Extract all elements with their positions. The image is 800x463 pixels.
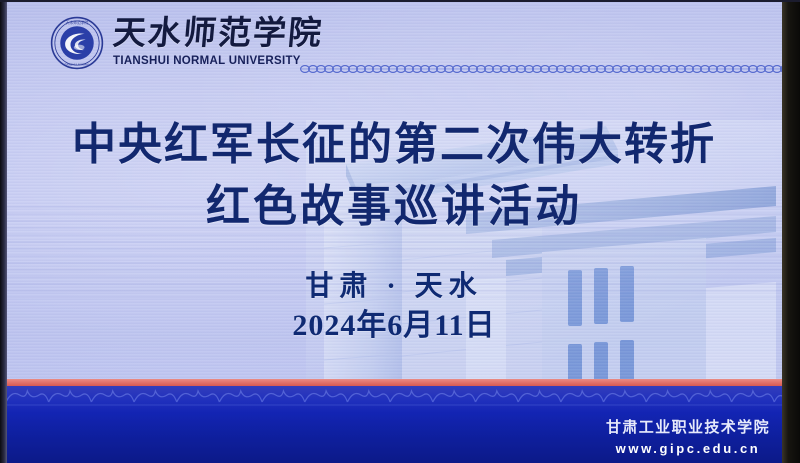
svg-text:天水师范学院: 天水师范学院 [66, 20, 89, 25]
event-location: 甘肃 · 天水 [6, 268, 782, 306]
decorative-chain-divider-icon [300, 63, 782, 75]
watermark-org-name: 甘肃工业职业技术学院 [606, 421, 770, 436]
svg-text:TIANSHUI NORMAL: TIANSHUI NORMAL [63, 63, 90, 67]
screenshot-root: 天水师范学院 TIANSHUI NORMAL 天水师范学院 TIANSHUI N… [0, 0, 800, 463]
watermark-url: www.gipc.edu.cn [606, 442, 770, 455]
university-name-en: TIANSHUI NORMAL UNIVERSITY [113, 56, 323, 68]
screen-bezel-right [782, 0, 800, 463]
broadcaster-watermark: 甘肃工业职业技术学院 www.gipc.edu.cn [606, 421, 770, 455]
title-line-1: 中央红军长征的第二次伟大转折 [6, 114, 782, 176]
university-seal-icon: 天水师范学院 TIANSHUI NORMAL [50, 16, 104, 70]
title-line-2: 红色故事巡讲活动 [6, 176, 782, 238]
red-accent-stripe [6, 379, 782, 386]
event-date: 2024年6月11日 [6, 306, 782, 346]
event-subtitle: 甘肃 · 天水 2024年6月11日 [6, 268, 782, 346]
university-name-cn: 天水师范学院 [112, 18, 325, 51]
decorative-cloud-wave-pattern-icon [6, 386, 782, 408]
led-display-panel: 天水师范学院 TIANSHUI NORMAL 天水师范学院 TIANSHUI N… [6, 0, 782, 463]
university-logo: 天水师范学院 TIANSHUI NORMAL 天水师范学院 TIANSHUI N… [50, 16, 323, 70]
event-title: 中央红军长征的第二次伟大转折 红色故事巡讲活动 [6, 114, 782, 238]
